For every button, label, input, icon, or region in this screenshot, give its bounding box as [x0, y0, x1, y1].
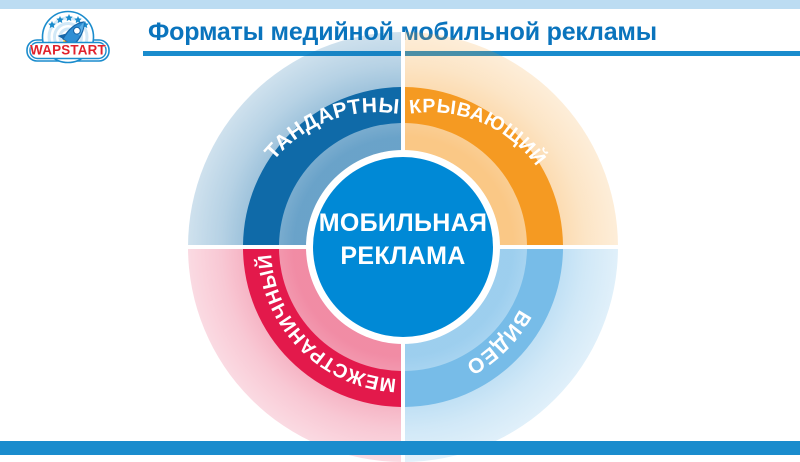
logo-wordmark: WAPSTART: [30, 43, 106, 58]
mobile-advertising-donut-diagram: СТАНДАРТНЫЙ РАСКРЫВАЮЩИЙСЯ ВИДЕО МЕЖСТРА…: [188, 32, 618, 462]
footer-accent-bar: [0, 441, 800, 455]
rocket-icon: WAPSTART: [14, 10, 122, 66]
wapstart-logo[interactable]: WAPSTART: [14, 10, 122, 66]
center-label-line1: МОБИЛЬНАЯ: [303, 207, 503, 240]
segment-standard-label: СТАНДАРТНЫЙ: [188, 32, 401, 164]
top-accent-strip: [0, 0, 800, 9]
center-label: МОБИЛЬНАЯ РЕКЛАМА: [303, 207, 503, 273]
center-label-line2: РЕКЛАМА: [303, 240, 503, 273]
